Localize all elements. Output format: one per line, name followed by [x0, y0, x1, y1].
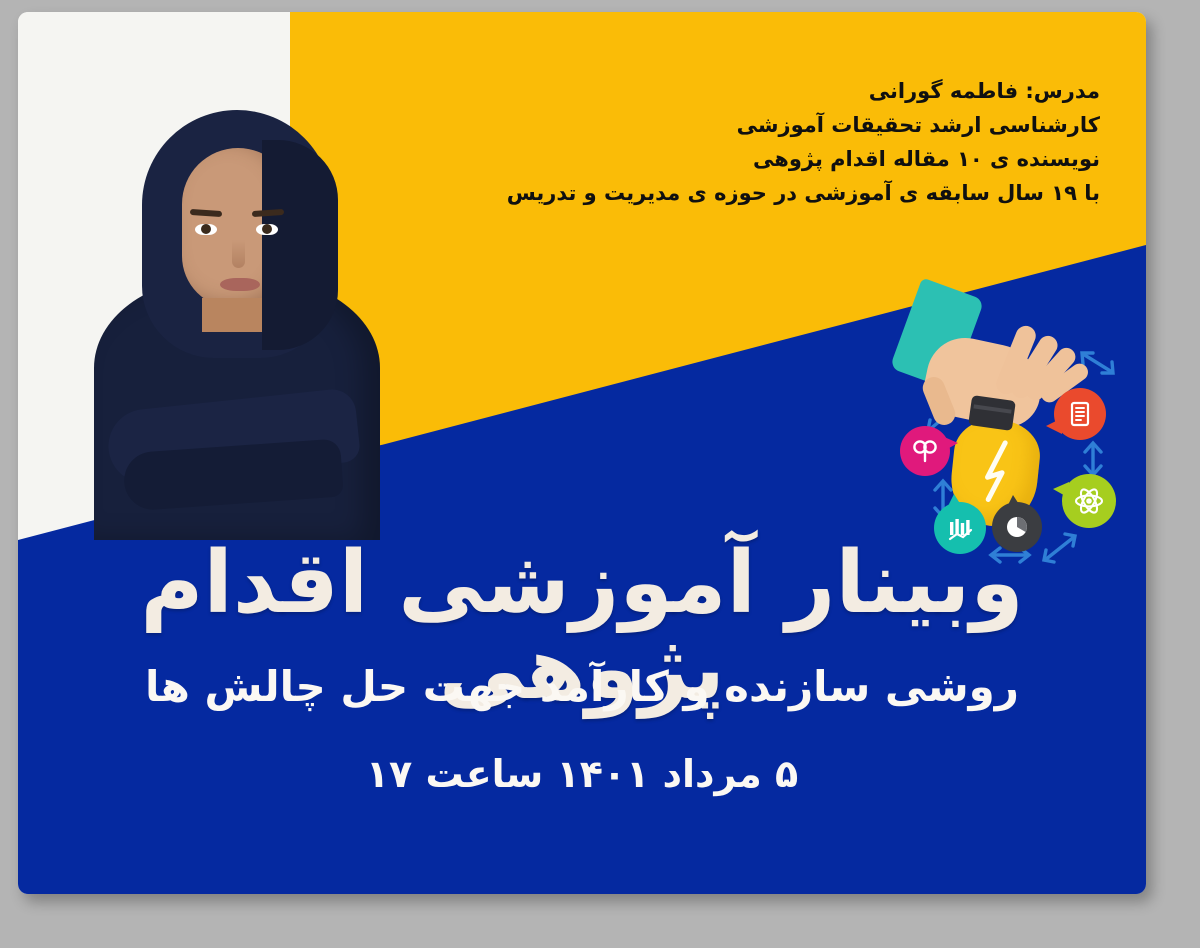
- atom-icon: [1074, 486, 1104, 516]
- page-subtitle: روشی سازنده و کارآمد جهت حل چالش ها: [18, 662, 1146, 711]
- instructor-photo: [86, 100, 386, 540]
- poster-card: مدرس: فاطمه گورانی کارشناسی ارشد تحقیقات…: [18, 12, 1146, 894]
- photo-pupil-left: [201, 224, 211, 234]
- bubble-atom: [1062, 474, 1116, 528]
- bubble-document: [1054, 388, 1106, 440]
- magnifier-idea-icon: [911, 437, 939, 465]
- speaker-line-experience: با ۱۹ سال سابقه ی آموزشی در حوزه ی مدیری…: [400, 176, 1100, 210]
- event-date: ۵ مرداد ۱۴۰۱ ساعت ۱۷: [18, 752, 1146, 796]
- speaker-credentials: مدرس: فاطمه گورانی کارشناسی ارشد تحقیقات…: [400, 74, 1100, 210]
- document-list-icon: [1066, 400, 1094, 428]
- speaker-line-degree: کارشناسی ارشد تحقیقات آموزشی: [400, 108, 1100, 142]
- lightbulb-base: [968, 395, 1016, 431]
- speaker-line-papers: نویسنده ی ۱۰ مقاله اقدام پژوهی: [400, 142, 1100, 176]
- photo-nose: [232, 240, 245, 268]
- speaker-line-name: مدرس: فاطمه گورانی: [400, 74, 1100, 108]
- photo-hijab-shade: [262, 140, 338, 350]
- photo-lips: [220, 278, 260, 291]
- photo-pupil-right: [262, 224, 272, 234]
- bubble-magnifier: [900, 426, 950, 476]
